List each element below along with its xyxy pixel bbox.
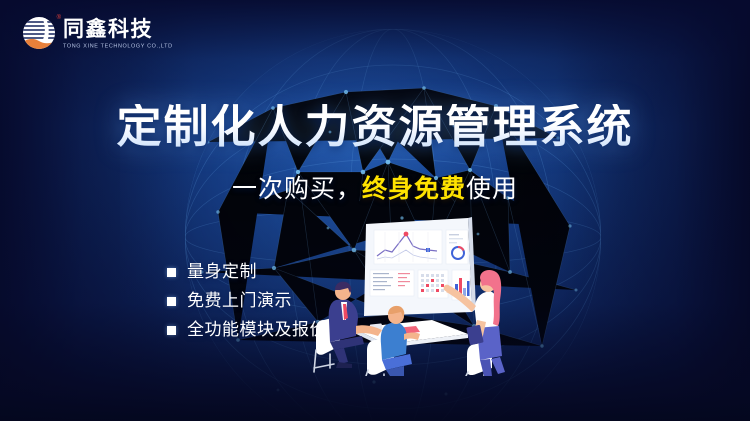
analytics-dashboard-screen [364,217,476,316]
logo-emblem-svg [22,16,56,50]
company-name-cn: 同鑫科技 [63,18,156,40]
page-title: 定制化人力资源管理系统 [0,104,750,149]
square-bullet-icon [167,268,176,277]
company-name-en: TONG XINE TECHNOLOGY CO.,LTD [63,42,173,48]
subtitle-highlight: 终身免费 [362,174,466,203]
list-item-label: 免费上门演示 [187,293,292,310]
tongxin-globe-logo-icon: ® [22,16,56,50]
business-meeting-dashboard-illustration [300,216,530,376]
promo-banner: ® 同鑫科技 TONG XINE TECHNOLOGY CO.,LTD 定制化人… [0,0,750,421]
registered-mark-icon: ® [57,15,61,21]
square-bullet-icon [167,297,176,306]
illustration-svg [300,216,530,376]
list-item-label: 量身定制 [187,264,257,281]
subtitle: 一次购买，终身免费使用 [0,176,750,201]
subtitle-suffix: 使用 [466,174,518,203]
subtitle-prefix: 一次购买， [232,174,362,203]
logo-text-block: 同鑫科技 TONG XINE TECHNOLOGY CO.,LTD [63,18,156,47]
company-logo: ® 同鑫科技 TONG XINE TECHNOLOGY CO.,LTD [22,16,156,50]
square-bullet-icon [167,326,176,335]
